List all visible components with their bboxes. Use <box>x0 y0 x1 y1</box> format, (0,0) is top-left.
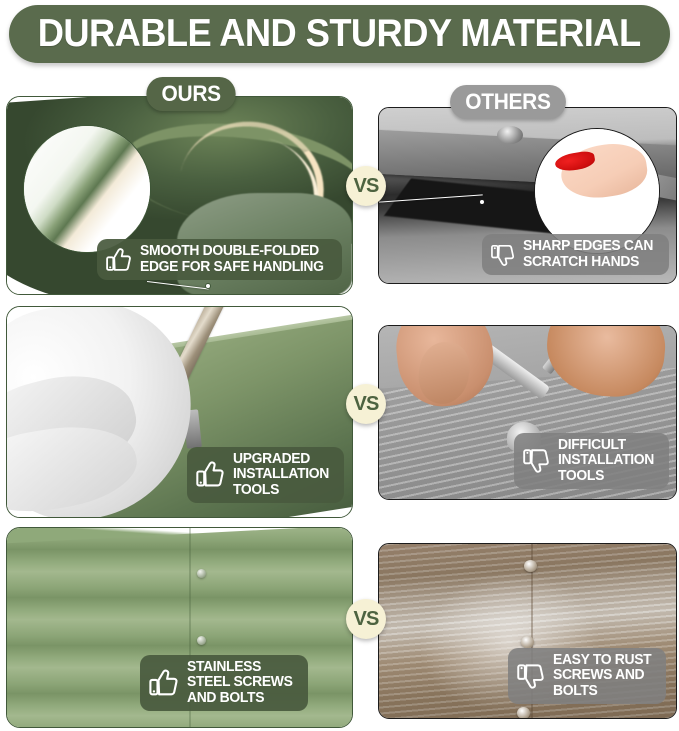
thumbs-down-icon <box>522 446 551 475</box>
page-title: DURABLE AND STURDY MATERIAL <box>38 12 641 56</box>
vs-badge-row-3-text: VS <box>353 608 378 631</box>
header-banner: DURABLE AND STURDY MATERIAL <box>9 5 670 63</box>
section-label-others-text: OTHERS <box>465 89 550 115</box>
row-1-ours-caption-text: SMOOTH DOUBLE-FOLDED EDGE FOR SAFE HANDL… <box>140 244 324 275</box>
screw-head <box>197 636 206 645</box>
row-2-ours-caption: UPGRADED INSTALLATION TOOLS <box>187 447 344 504</box>
vs-badge-row-1: VS <box>346 166 386 206</box>
row-3-others-caption: EASY TO RUST SCREWS AND BOLTS <box>508 648 666 705</box>
row-1-others-caption: SHARP EDGES CAN SCRATCH HANDS <box>482 234 669 275</box>
section-label-others: OTHERS <box>450 85 566 119</box>
vs-badge-row-1-text: VS <box>353 175 378 198</box>
thumbs-up-icon <box>148 667 180 699</box>
row-2-ours-caption-text: UPGRADED INSTALLATION TOOLS <box>233 452 329 499</box>
row-2-ours-panel: UPGRADED INSTALLATION TOOLS <box>6 306 353 518</box>
vs-badge-row-2-text: VS <box>353 393 378 416</box>
vs-badge-row-3: VS <box>346 599 386 639</box>
row-3-ours-caption: STAINLESS STEEL SCREWS AND BOLTS <box>140 655 308 712</box>
vs-badge-row-2: VS <box>346 384 386 424</box>
row-2-others-caption: DIFFICULT INSTALLATION TOOLS <box>514 433 669 490</box>
row-2-others-caption-text: DIFFICULT INSTALLATION TOOLS <box>558 438 654 485</box>
section-label-ours-text: OURS <box>162 81 221 107</box>
row-1-others-caption-text: SHARP EDGES CAN SCRATCH HANDS <box>523 239 653 270</box>
row-3-ours-panel: STAINLESS STEEL SCREWS AND BOLTS <box>6 527 353 728</box>
row-1-ours-magnifier-inset <box>23 125 151 253</box>
row-1-ours-caption: SMOOTH DOUBLE-FOLDED EDGE FOR SAFE HANDL… <box>97 239 342 280</box>
row-3-ours-caption-text: STAINLESS STEEL SCREWS AND BOLTS <box>187 660 293 707</box>
thumbs-up-icon <box>195 459 226 490</box>
row-3-others-caption-text: EASY TO RUST SCREWS AND BOLTS <box>553 653 651 700</box>
rusty-screw-head <box>517 707 530 719</box>
row-1-ours-panel: SMOOTH DOUBLE-FOLDED EDGE FOR SAFE HANDL… <box>6 96 353 295</box>
infographic-page: DURABLE AND STURDY MATERIAL OURS OTHERS <box>0 0 679 731</box>
thumbs-down-icon <box>516 661 546 691</box>
row-3-others-panel: EASY TO RUST SCREWS AND BOLTS <box>378 543 677 719</box>
comparison-row-3: STAINLESS STEEL SCREWS AND BOLTS EASY T <box>0 527 679 728</box>
rusty-screw-head <box>521 636 534 648</box>
section-label-ours: OURS <box>146 77 236 111</box>
row-1-others-panel: SHARP EDGES CAN SCRATCH HANDS <box>378 107 677 284</box>
row-1-ours-pointer-dot <box>205 283 211 289</box>
thumbs-up-icon <box>105 246 133 274</box>
rusty-screw-head <box>524 560 537 572</box>
thumbs-down-icon <box>490 242 516 268</box>
row-1-others-pointer-dot <box>479 199 485 205</box>
row-2-others-panel: DIFFICULT INSTALLATION TOOLS <box>378 325 677 500</box>
comparison-row-2: UPGRADED INSTALLATION TOOLS DI <box>0 306 679 518</box>
comparison-row-1: SMOOTH DOUBLE-FOLDED EDGE FOR SAFE HANDL… <box>0 96 679 295</box>
screw-head <box>197 569 206 578</box>
